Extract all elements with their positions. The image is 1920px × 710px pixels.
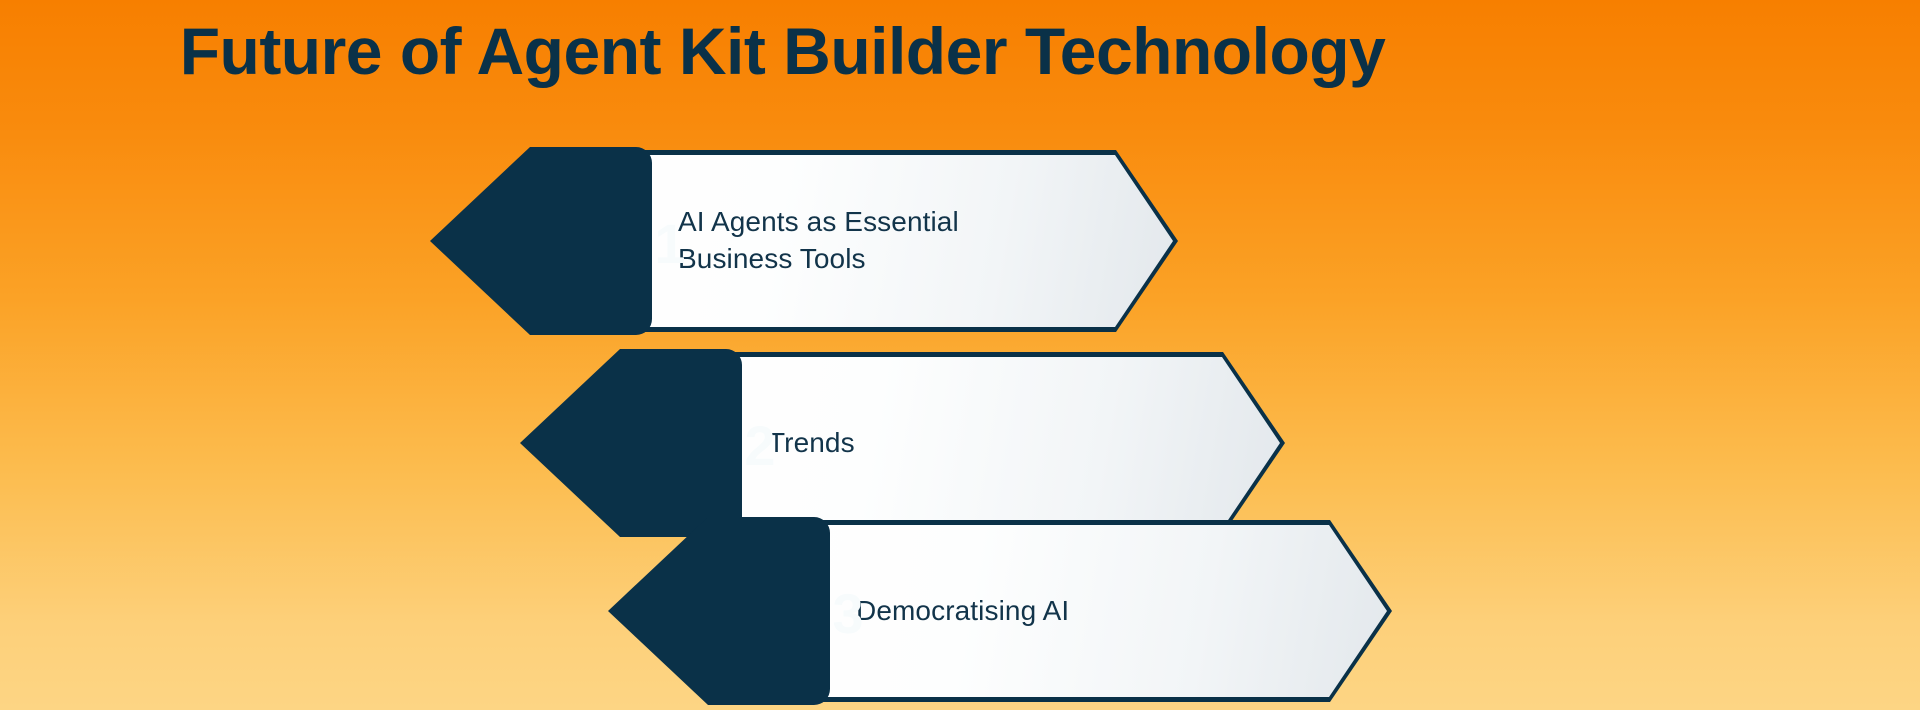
step-number-chevron [608, 517, 830, 705]
step-label-3: Democratising AI [856, 520, 1312, 702]
step-label-2: Trends [768, 352, 1205, 534]
step-number-chevron [430, 147, 652, 335]
step-number-chevron [520, 349, 742, 537]
step-item-1[interactable]: 1 AI Agents as Essential Business Tools [530, 150, 1178, 332]
step-number-2: 2 [712, 352, 808, 540]
step-label-1: AI Agents as Essential Business Tools [678, 150, 1098, 332]
step-item-2[interactable]: 2 Trends [620, 352, 1285, 534]
step-number-3: 3 [800, 520, 896, 708]
steps-list: 1 AI Agents as Essential Business Tools … [0, 0, 1920, 710]
step-number-1: 1 [622, 150, 718, 338]
step-item-3[interactable]: 3 Democratising AI [708, 520, 1392, 702]
